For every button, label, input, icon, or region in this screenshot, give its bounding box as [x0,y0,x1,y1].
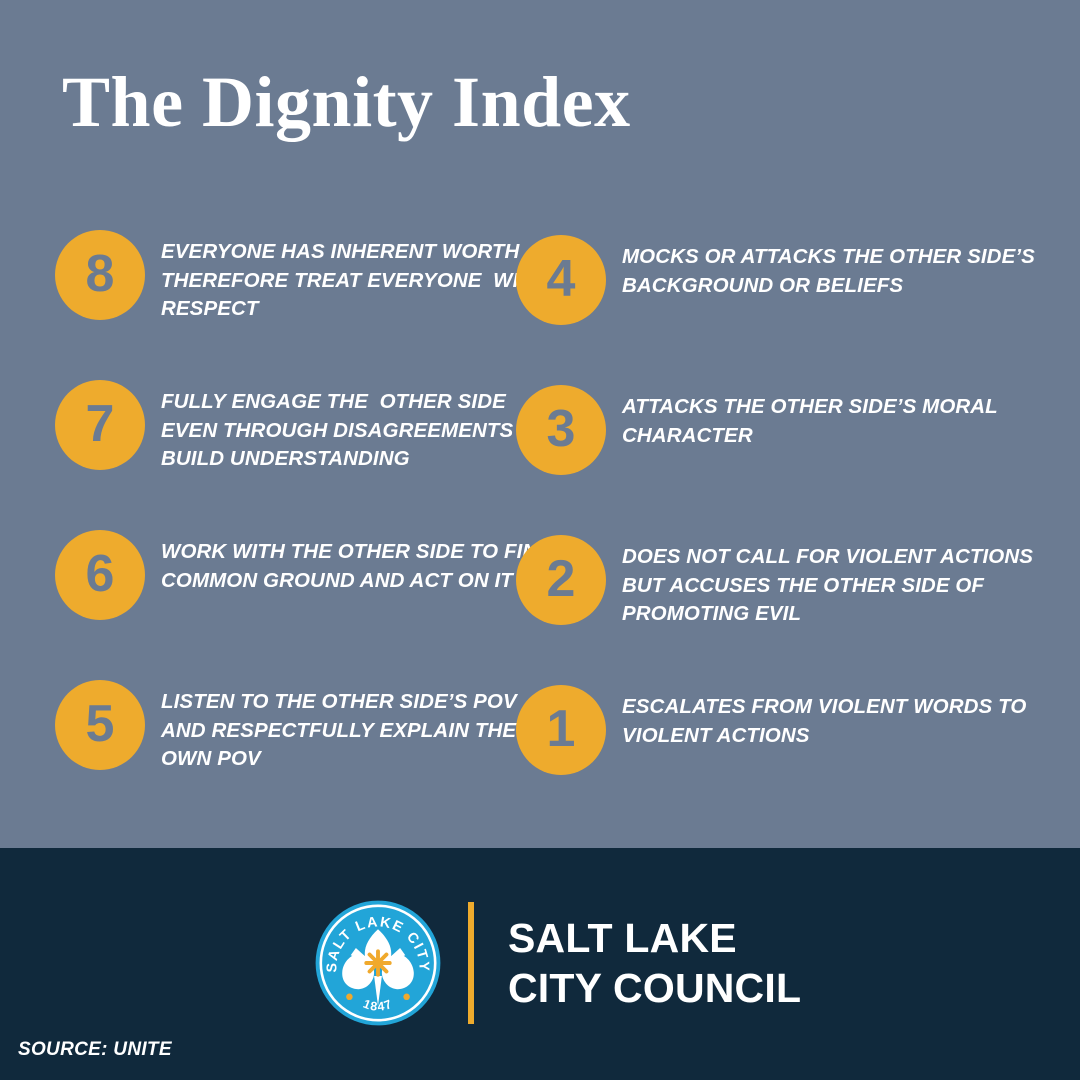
entry-number: 8 [86,248,115,303]
entry-badge-3: 3 [516,385,606,475]
entry-number: 6 [86,548,115,603]
brand-divider [468,902,474,1024]
index-column-left: 8 EVERYONE HAS INHERENT WORTH THEREFORE … [55,230,555,830]
index-column-right: 4 MOCKS OR ATTACKS THE OTHER SIDE’S BACK… [516,235,1016,835]
entry-number: 2 [547,553,576,608]
entry-description: DOES NOT CALL FOR VIOLENT ACTIONS BUT AC… [622,543,1042,629]
entry-description: LISTEN TO THE OTHER SIDE’S POV AND RESPE… [161,688,561,774]
index-entry: 4 MOCKS OR ATTACKS THE OTHER SIDE’S BACK… [516,235,1016,385]
entry-badge-7: 7 [55,380,145,470]
entry-number: 5 [86,698,115,753]
entry-description: ATTACKS THE OTHER SIDE’S MORAL CHARACTER [622,393,1042,450]
index-entry: 2 DOES NOT CALL FOR VIOLENT ACTIONS BUT … [516,535,1016,685]
entry-description: FULLY ENGAGE THE OTHER SIDE EVEN THROUGH… [161,388,561,474]
index-entry: 6 WORK WITH THE OTHER SIDE TO FIND COMMO… [55,530,555,680]
index-entry: 7 FULLY ENGAGE THE OTHER SIDE EVEN THROU… [55,380,555,530]
page-title: The Dignity Index [62,62,631,142]
entry-badge-2: 2 [516,535,606,625]
entry-badge-4: 4 [516,235,606,325]
index-entry: 3 ATTACKS THE OTHER SIDE’S MORAL CHARACT… [516,385,1016,535]
entry-badge-5: 5 [55,680,145,770]
entry-number: 4 [547,253,576,308]
entry-badge-1: 1 [516,685,606,775]
entry-badge-8: 8 [55,230,145,320]
entry-description: WORK WITH THE OTHER SIDE TO FIND COMMON … [161,538,561,595]
infographic-poster: The Dignity Index 8 EVERYONE HAS INHEREN… [0,0,1080,1080]
entry-number: 1 [547,703,576,758]
entry-description: EVERYONE HAS INHERENT WORTH THEREFORE TR… [161,238,561,324]
index-entry: 1 ESCALATES FROM VIOLENT WORDS TO VIOLEN… [516,685,1016,835]
salt-lake-city-seal-icon: SALT LAKE CITY [313,898,443,1028]
entry-badge-6: 6 [55,530,145,620]
source-credit: SOURCE: UNITE [18,1039,172,1061]
index-entry: 5 LISTEN TO THE OTHER SIDE’S POV AND RES… [55,680,555,830]
brand-lockup: SALT LAKE CITY [313,898,801,1028]
entry-number: 7 [86,398,115,453]
entry-description: MOCKS OR ATTACKS THE OTHER SIDE’S BACKGR… [622,243,1042,300]
entry-description: ESCALATES FROM VIOLENT WORDS TO VIOLENT … [622,693,1042,750]
index-entry: 8 EVERYONE HAS INHERENT WORTH THEREFORE … [55,230,555,380]
entry-number: 3 [547,403,576,458]
brand-name: SALT LAKE CITY COUNCIL [508,913,801,1013]
